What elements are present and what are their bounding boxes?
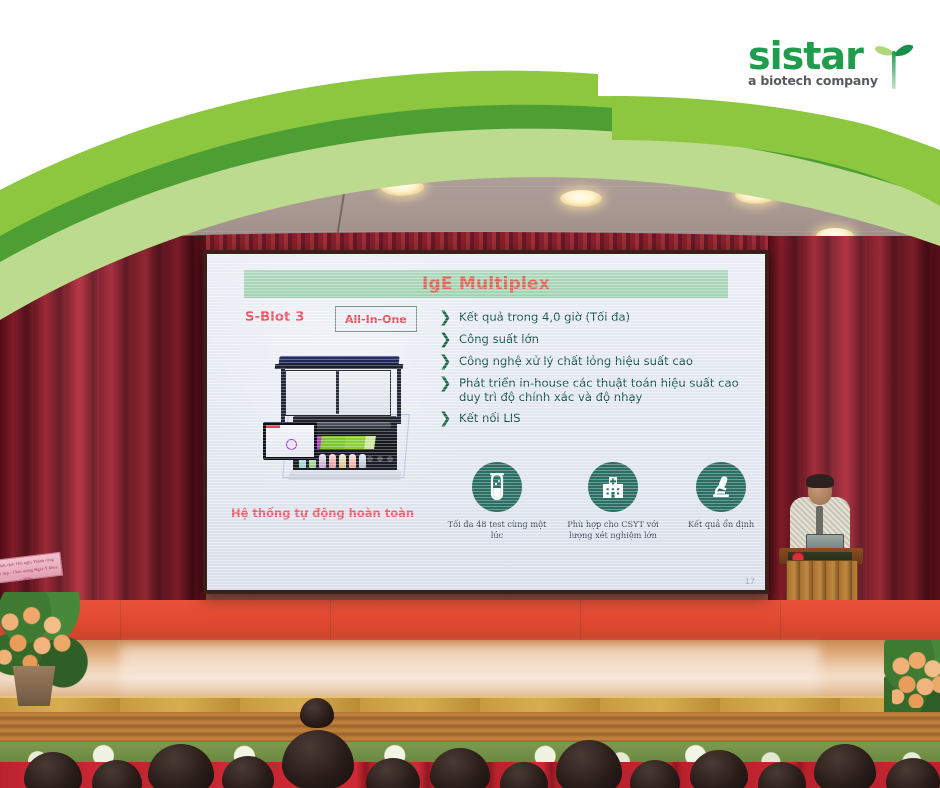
machine-caption: Hệ thống tự động hoàn toàn <box>231 506 414 520</box>
product-name: S-Blot 3 <box>245 310 304 325</box>
audience-head-far <box>300 698 334 728</box>
chevron-right-icon: ❯ <box>439 332 452 347</box>
bullet-item: ❯ Phát triển in-house các thuật toán hiệ… <box>439 376 749 404</box>
ceiling-light <box>290 132 336 152</box>
ceiling-light <box>380 178 424 196</box>
ceiling-light <box>497 114 543 134</box>
bouquet-flowers <box>0 606 78 670</box>
machine-knob <box>367 456 373 462</box>
feature-caption: Tối đa 48 test cùng một lúc <box>443 519 551 541</box>
bullet-text: Công nghệ xử lý chất lỏng hiệu suất cao <box>459 354 693 368</box>
machine-knob <box>377 456 383 462</box>
bullet-item: ❯ Công suất lớn <box>439 332 749 347</box>
stage-riser <box>0 600 940 644</box>
bullet-item: ❯ Kết quả trong 4,0 giờ (Tối đa) <box>439 310 749 325</box>
ceiling-light <box>560 190 602 207</box>
sprout-leaf-right <box>895 45 913 56</box>
bullet-text: Kết quả trong 4,0 giờ (Tối đa) <box>459 310 630 324</box>
reagent-bottle <box>339 454 346 468</box>
sprout-leaf-left <box>875 46 893 55</box>
machine-hood-edge <box>275 364 404 369</box>
all-in-one-badge-label: All-In-One <box>345 313 407 326</box>
slide-title-band: IgE Multiplex <box>244 270 728 298</box>
bullet-text: Công suất lớn <box>459 332 539 346</box>
speaker-hair <box>806 474 834 488</box>
sprout-icon <box>873 38 915 90</box>
presentation-slide: IgE Multiplex S-Blot 3 All-In-One <box>207 254 765 590</box>
ceiling-panel-line <box>160 136 860 137</box>
riser-segment <box>780 600 940 644</box>
riser-segment <box>330 600 581 644</box>
screenshot-root: Kính chúc Hội nghị Thành công Tốt đẹp - … <box>0 0 940 788</box>
riser-segment <box>120 600 331 644</box>
riser-segment <box>580 600 781 644</box>
chevron-right-icon: ❯ <box>439 376 452 391</box>
slide-number: 17 <box>745 577 755 586</box>
machine-post <box>397 366 401 424</box>
feature-caption: Kết quả ổn định <box>667 519 765 530</box>
test-tube-icon <box>472 462 522 512</box>
machine-monitor-screen <box>266 425 314 457</box>
speaker-tie <box>816 506 823 536</box>
machine-knobs <box>367 456 395 464</box>
feature-test-capacity: Tối đa 48 test cùng một lúc <box>443 462 551 541</box>
ceiling-light <box>660 124 704 143</box>
bouquet-flowers-right <box>892 652 940 708</box>
bullet-item: ❯ Kết nối LIS <box>439 411 749 426</box>
sprout-stem <box>892 51 896 89</box>
feature-facility-fit: Phù hợp cho CSYT với lượng xét nghiệm lớ… <box>559 462 667 541</box>
monitor-logo-icon <box>286 439 297 450</box>
slide-bullet-list: ❯ Kết quả trong 4,0 giờ (Tối đa) ❯ Công … <box>439 310 749 433</box>
reagent-bottle <box>349 454 356 468</box>
feature-caption: Phù hợp cho CSYT với lượng xét nghiệm lớ… <box>559 519 667 541</box>
ceiling-light <box>735 186 777 204</box>
all-in-one-badge: All-In-One <box>335 306 417 332</box>
reagent-bottle <box>359 454 366 468</box>
chevron-right-icon: ❯ <box>439 411 452 426</box>
microscope-icon <box>696 462 746 512</box>
stage-floor-reflection <box>120 646 820 698</box>
machine-knob <box>387 456 393 462</box>
slide-title: IgE Multiplex <box>422 274 550 294</box>
feature-stable-results: Kết quả ổn định <box>667 462 765 530</box>
machine-monitor <box>263 422 317 460</box>
sistar-logo: sistar a biotech company <box>748 36 924 98</box>
reagent-bottle <box>319 454 326 468</box>
chevron-right-icon: ❯ <box>439 310 452 325</box>
hospital-icon <box>588 462 638 512</box>
machine-hood-divider <box>336 370 339 414</box>
monitor-title-bar <box>266 425 280 428</box>
s-blot-3-machine-image <box>263 350 411 500</box>
reagent-bottle <box>329 454 336 468</box>
chevron-right-icon: ❯ <box>439 354 452 369</box>
machine-base <box>288 470 401 480</box>
projector-screen-frame: IgE Multiplex S-Blot 3 All-In-One <box>203 250 769 594</box>
bullet-text: Phát triển in-house các thuật toán hiệu … <box>459 376 749 404</box>
bullet-item: ❯ Công nghệ xử lý chất lỏng hiệu suất ca… <box>439 354 749 369</box>
ceiling-light <box>222 184 264 202</box>
bullet-text: Kết nối LIS <box>459 411 521 425</box>
